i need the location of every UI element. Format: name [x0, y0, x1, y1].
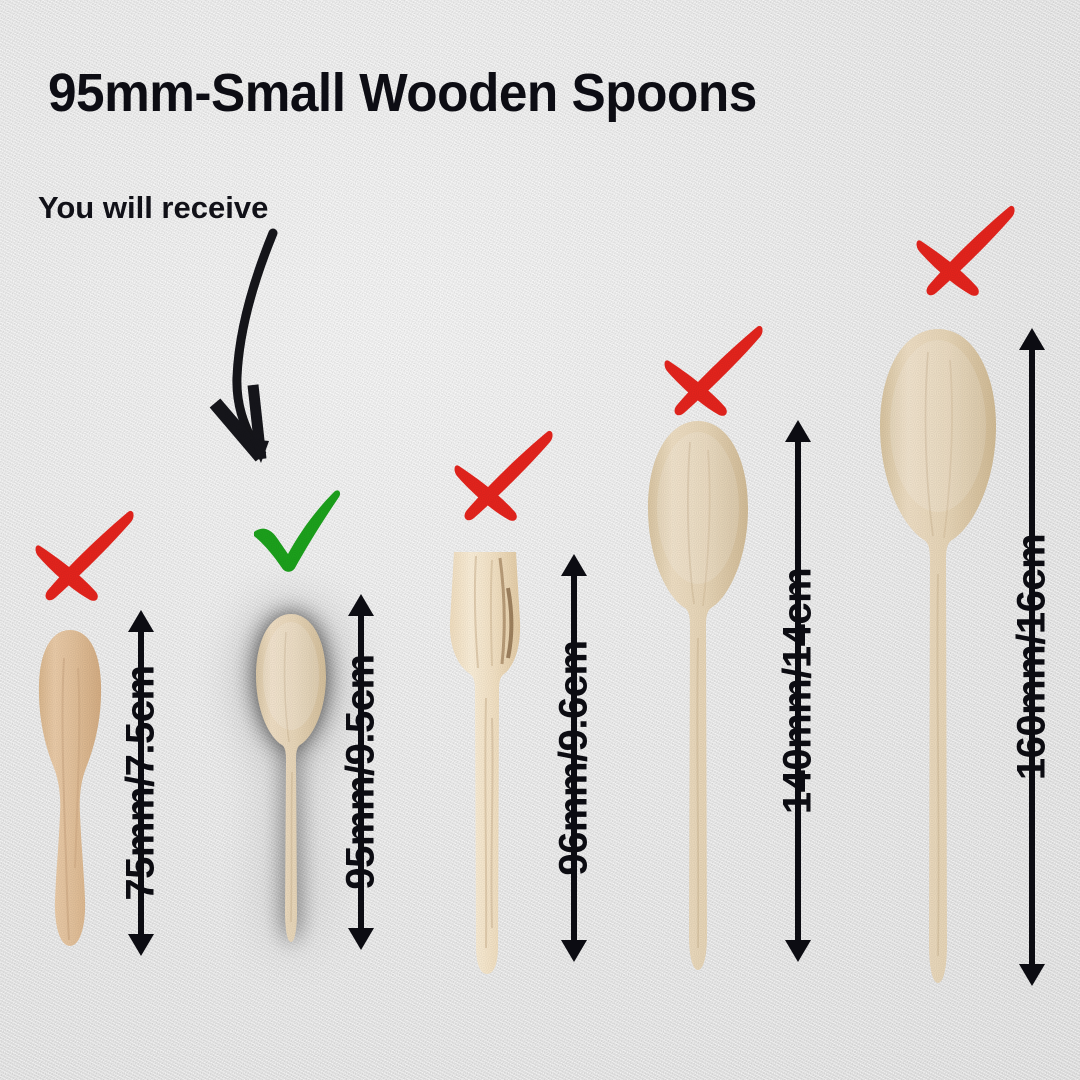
- measure-label: 95mm/9.5cm: [339, 654, 384, 889]
- measure-160mm: 160mm/16cm: [992, 326, 1072, 988]
- red-cross-icon: [443, 430, 553, 530]
- you-will-receive-label: You will receive: [38, 190, 268, 226]
- measure-label: 96mm/9.6cm: [552, 640, 597, 875]
- flat-end-ice-cream-spoon-shape: [432, 548, 542, 976]
- red-cross-icon: [905, 205, 1015, 305]
- measure-96mm: 96mm/9.6cm: [538, 552, 610, 964]
- page-title: 95mm-Small Wooden Spoons: [48, 62, 757, 124]
- red-cross-icon: [24, 510, 134, 610]
- measure-label: 75mm/7.5cm: [119, 665, 164, 900]
- measure-95mm: 95mm/9.5cm: [325, 592, 397, 952]
- measure-label: 140mm/14cm: [776, 568, 821, 814]
- flat-taster-spatula-shape: [28, 628, 112, 950]
- measure-75mm: 75mm/7.5cm: [105, 608, 177, 958]
- product-size-comparison-image: 95mm-Small Wooden Spoons You will receiv…: [0, 0, 1080, 1080]
- large-wooden-spoon-shape: [868, 326, 1008, 986]
- small-wooden-spoon-shape: [246, 612, 336, 952]
- green-check-icon: [248, 488, 344, 572]
- measure-140mm: 140mm/14cm: [760, 418, 836, 964]
- measure-label: 160mm/16cm: [1010, 534, 1055, 780]
- red-cross-icon: [653, 325, 763, 425]
- medium-wooden-spoon-shape: [638, 418, 758, 974]
- curved-down-arrow-icon: [195, 225, 335, 475]
